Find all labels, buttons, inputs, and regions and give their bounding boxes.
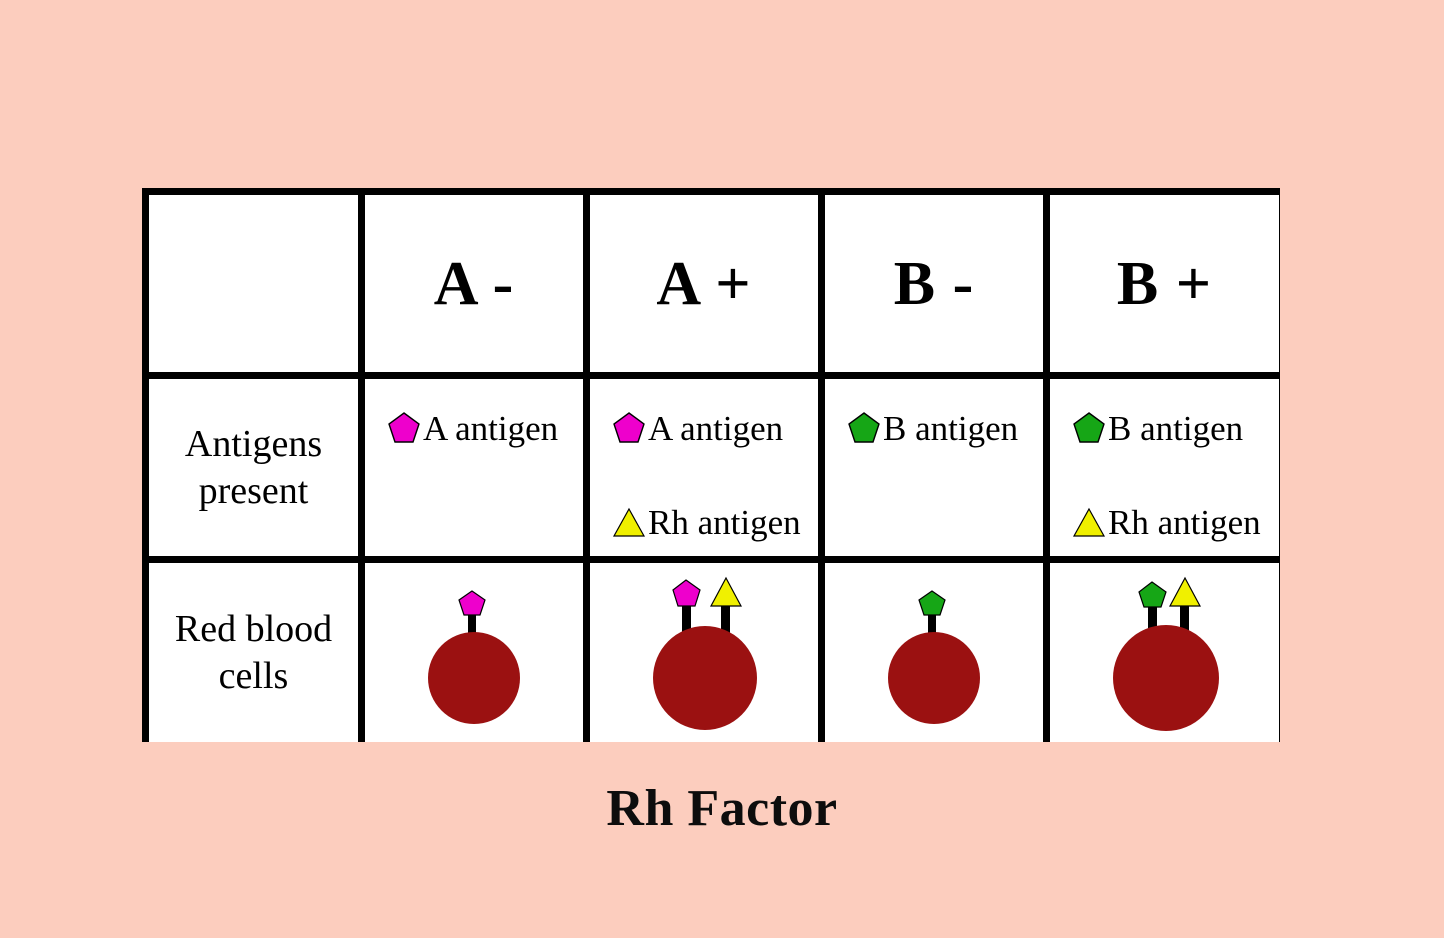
antigens-cell-a-positive: A antigen Rh antigen — [590, 379, 825, 563]
pentagon-icon — [847, 411, 881, 445]
red-blood-cell-diagram — [825, 563, 1043, 742]
red-blood-cell-diagram — [1050, 563, 1279, 742]
row-header-line-2: cells — [219, 655, 289, 697]
column-header-a-negative: A - — [365, 195, 590, 379]
red-blood-cell-diagram — [590, 563, 818, 742]
antigens-cell-b-negative: B antigen — [825, 379, 1050, 563]
antigen-entry: A antigen — [387, 405, 583, 451]
antigen-label: B antigen — [1108, 411, 1243, 446]
row-header-line-2: present — [199, 470, 309, 512]
table-corner-cell — [149, 195, 365, 379]
antigen-label: B antigen — [883, 411, 1018, 446]
column-header-label: B + — [1117, 253, 1212, 315]
antigen-label: Rh antigen — [648, 505, 801, 540]
row-header-label: Antigenspresent — [185, 421, 322, 514]
row-header-line-1: Antigens — [185, 423, 322, 465]
row-header-antigens-present: Antigenspresent — [149, 379, 365, 563]
column-header-label: A + — [656, 253, 751, 315]
triangle-icon — [612, 505, 646, 539]
antigen-entry: Rh antigen — [612, 499, 818, 545]
figure-caption: Rh Factor — [0, 779, 1444, 838]
row-header-label: Red bloodcells — [175, 606, 332, 699]
rbc-cell-a-negative — [365, 563, 590, 742]
column-header-b-positive: B + — [1050, 195, 1279, 379]
antigens-cell-b-positive: B antigen Rh antigen — [1050, 379, 1279, 563]
row-header-line-1: Red blood — [175, 608, 332, 650]
antigens-cell-a-negative: A antigen — [365, 379, 590, 563]
antigen-entry: A antigen — [612, 405, 818, 451]
rbc-cell-a-positive — [590, 563, 825, 742]
pentagon-icon — [387, 411, 421, 445]
red-blood-cell-diagram — [365, 563, 583, 742]
pentagon-icon — [612, 411, 646, 445]
blood-type-table: A - A + B - B + Antigenspresent A antige… — [142, 188, 1280, 742]
antigen-entry: B antigen — [1072, 405, 1279, 451]
antigen-legend-list: A antigen Rh antigen — [590, 379, 818, 556]
antigen-label: A antigen — [423, 411, 558, 446]
row-header-red-blood-cells: Red bloodcells — [149, 563, 365, 742]
antigen-legend-list: B antigen Rh antigen — [1050, 379, 1279, 556]
antigen-label: Rh antigen — [1108, 505, 1261, 540]
antigen-legend-list: A antigen — [365, 379, 583, 556]
antigen-label: A antigen — [648, 411, 783, 446]
rbc-cell-b-positive — [1050, 563, 1279, 742]
column-header-label: A - — [434, 253, 515, 315]
column-header-a-positive: A + — [590, 195, 825, 379]
rbc-cell-b-negative — [825, 563, 1050, 742]
triangle-icon — [1072, 505, 1106, 539]
column-header-label: B - — [894, 253, 975, 315]
antigen-entry: B antigen — [847, 405, 1043, 451]
pentagon-icon — [1072, 411, 1106, 445]
antigen-legend-list: B antigen — [825, 379, 1043, 556]
antigen-entry: Rh antigen — [1072, 499, 1279, 545]
column-header-b-negative: B - — [825, 195, 1050, 379]
